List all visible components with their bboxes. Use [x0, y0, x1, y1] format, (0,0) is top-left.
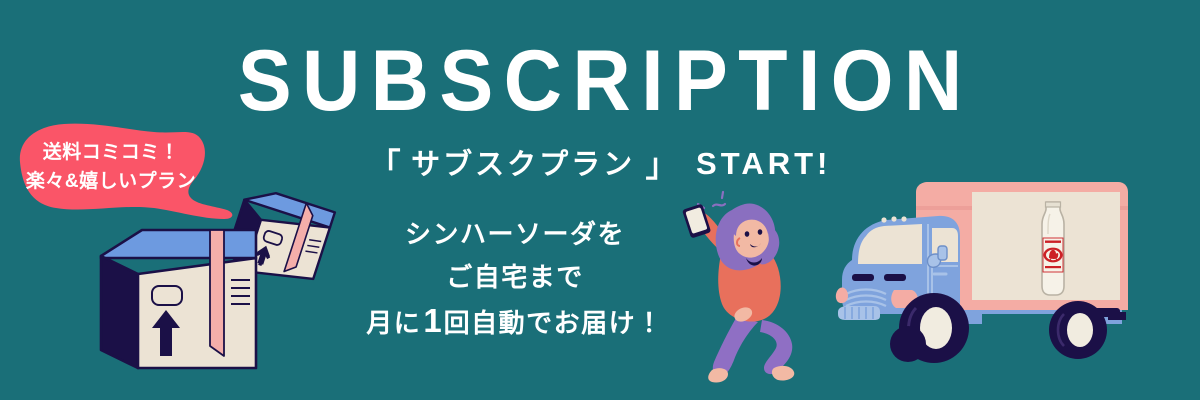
face-features	[745, 229, 763, 247]
bracket-close-mark: 」	[646, 147, 678, 183]
start-label: START!	[696, 146, 831, 181]
bracket-open-mark: 「	[369, 147, 401, 183]
phone-icon	[682, 204, 711, 239]
shipping-badge: 送料コミコミ！ 楽々&嬉しいプラン	[2, 118, 252, 228]
truck-icon	[812, 162, 1192, 382]
person-icon	[666, 192, 846, 382]
delivery-truck-illustration	[812, 162, 1192, 382]
copy-line-2: ご自宅まで	[350, 256, 680, 299]
badge-blob-shape	[2, 118, 252, 228]
copy-line-3-prefix: 月に	[366, 308, 421, 338]
grille-icon	[846, 290, 886, 307]
singha-soda-bottle-icon	[1042, 202, 1064, 295]
body-copy: シンハーソーダを ご自宅まで 月に1回自動でお届け！	[350, 213, 680, 345]
rear-wheel-icon	[1049, 301, 1107, 359]
subscription-banner: SUBSCRIPTION 「 サブスクプラン 」 START! シンハーソーダを…	[0, 0, 1200, 400]
copy-line-3-suffix: 回自動でお届け！	[444, 308, 664, 338]
woman-with-phone-illustration	[666, 192, 846, 382]
page-title: SUBSCRIPTION	[36, 38, 1164, 124]
copy-line-1: シンハーソーダを	[350, 213, 680, 256]
plan-label: サブスクプラン	[411, 149, 635, 181]
copy-line-3: 月に1回自動でお届け！	[350, 299, 680, 345]
frequency-number: 1	[421, 302, 443, 339]
roof-lights-icon	[881, 216, 906, 222]
front-wheel-icon	[899, 293, 969, 363]
sparkle-icon	[695, 192, 735, 218]
large-box-icon	[101, 230, 256, 368]
